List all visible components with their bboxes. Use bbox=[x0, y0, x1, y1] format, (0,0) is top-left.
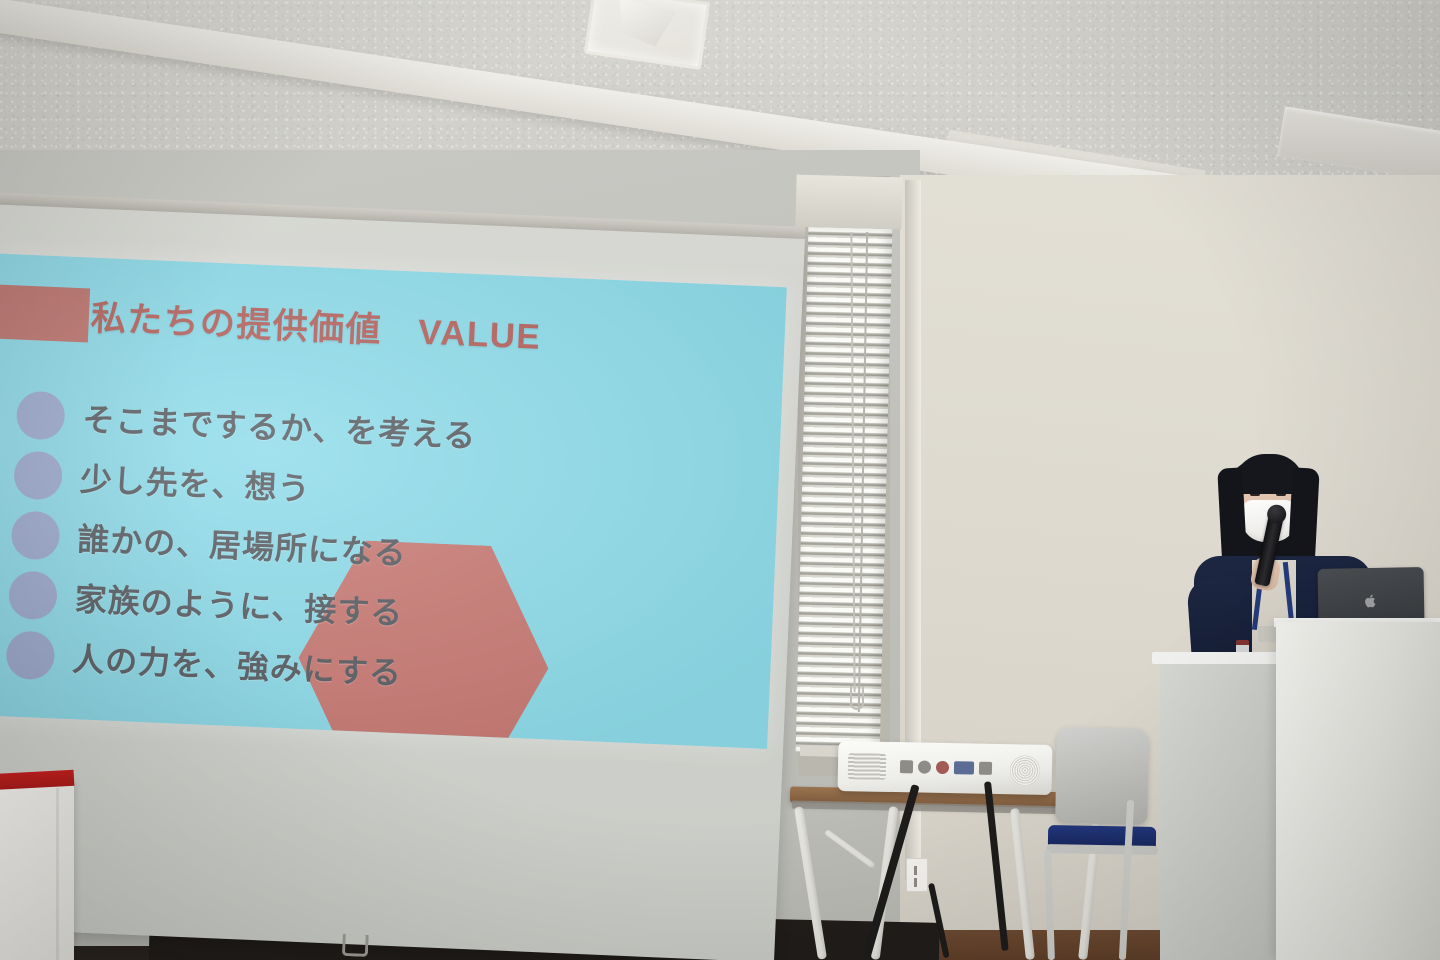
port-icon bbox=[918, 760, 931, 773]
bullet-dot-icon bbox=[13, 450, 63, 500]
podium-side-table-top bbox=[1152, 652, 1286, 664]
bullet-label: 人の力を、強みにする bbox=[71, 634, 403, 694]
bullet-dot-icon bbox=[8, 570, 58, 620]
bullet-label: 誰かの、居場所になる bbox=[77, 514, 408, 574]
projector-vent-icon bbox=[848, 753, 886, 780]
drape-fold bbox=[56, 788, 59, 960]
projected-slide: 私たちの提供価値 VALUE そこまでするか、を考える 少し先を、想う 誰かの、… bbox=[0, 254, 787, 749]
wall-outlet-icon[interactable] bbox=[906, 858, 928, 892]
slide-bullet-list: そこまでするか、を考える 少し先を、想う 誰かの、居場所になる 家族のように、接… bbox=[5, 385, 717, 715]
venetian-blinds[interactable] bbox=[796, 227, 893, 754]
podium-side-table bbox=[1160, 660, 1278, 960]
draped-table bbox=[0, 782, 74, 960]
slide-title: 私たちの提供価値 VALUE bbox=[90, 290, 752, 369]
bullet-dot-icon bbox=[5, 630, 55, 680]
chair-seat-rim bbox=[1046, 844, 1158, 855]
macbook-laptop[interactable] bbox=[1318, 567, 1425, 623]
blinds-headrail bbox=[795, 175, 902, 230]
screen-pull-handle[interactable] bbox=[342, 934, 369, 957]
projector-speaker-icon bbox=[1010, 755, 1041, 786]
bullet-label: 少し先を、想う bbox=[79, 454, 311, 510]
blinds-cord-loop[interactable] bbox=[850, 686, 864, 710]
lectern bbox=[1276, 622, 1440, 960]
port-icon bbox=[900, 760, 913, 773]
projector bbox=[838, 741, 1053, 795]
title-accent-chip bbox=[0, 285, 90, 343]
bullet-label: そこまでするか、を考える bbox=[82, 394, 478, 457]
apple-logo-icon bbox=[1364, 594, 1377, 609]
port-icon bbox=[979, 761, 992, 774]
chair-backrest[interactable] bbox=[1055, 727, 1149, 825]
bullet-dot-icon bbox=[16, 391, 66, 441]
projector-ports bbox=[900, 753, 1018, 781]
bullet-dot-icon bbox=[11, 510, 61, 560]
bullet-label: 家族のように、接する bbox=[74, 574, 404, 634]
port-icon bbox=[954, 761, 974, 774]
projection-screen: 私たちの提供価値 VALUE そこまでするか、を考える 少し先を、想う 誰かの、… bbox=[0, 196, 805, 960]
port-icon bbox=[936, 760, 949, 773]
presentation-room-scene: 私たちの提供価値 VALUE そこまでするか、を考える 少し先を、想う 誰かの、… bbox=[0, 0, 1440, 960]
